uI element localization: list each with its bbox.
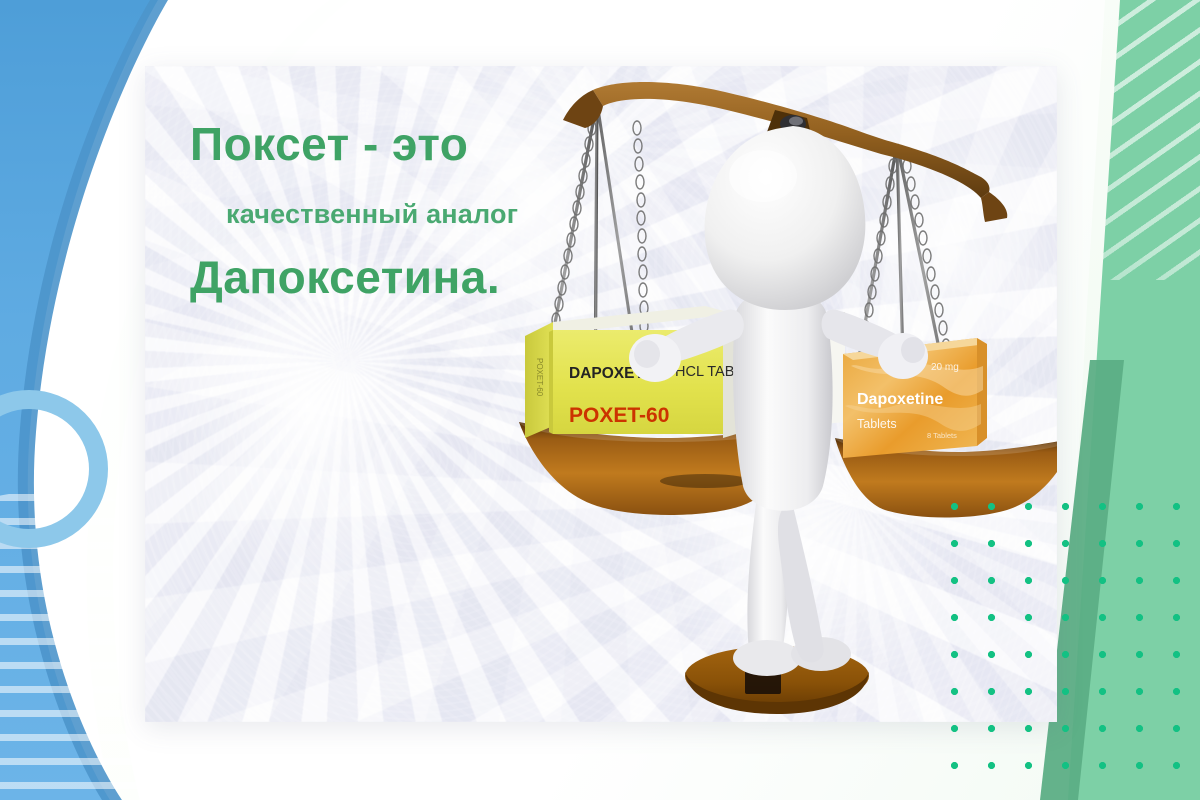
right-package-footer: 8 Tablets xyxy=(927,431,957,440)
right-package-subtitle: Tablets xyxy=(857,417,897,431)
headline-line-3: Дапоксетина. xyxy=(190,254,750,300)
right-package-brand: Dapoxetine xyxy=(857,391,943,408)
photo-panel: Поксет - это качественный аналог Дапоксе… xyxy=(145,66,1057,722)
headline-line-2: качественный аналог xyxy=(226,201,750,228)
right-package-dosage: 20 mg xyxy=(931,362,959,373)
banner-canvas: Поксет - это качественный аналог Дапоксе… xyxy=(0,0,1200,800)
dot-grid-icon xyxy=(936,488,1188,780)
left-package-brand: POXET-60 xyxy=(569,404,669,427)
left-package-side-text: POXET-60 xyxy=(535,358,544,397)
headline-line-1: Поксет - это xyxy=(190,121,750,167)
headline-block: Поксет - это качественный аналог Дапоксе… xyxy=(190,121,750,300)
